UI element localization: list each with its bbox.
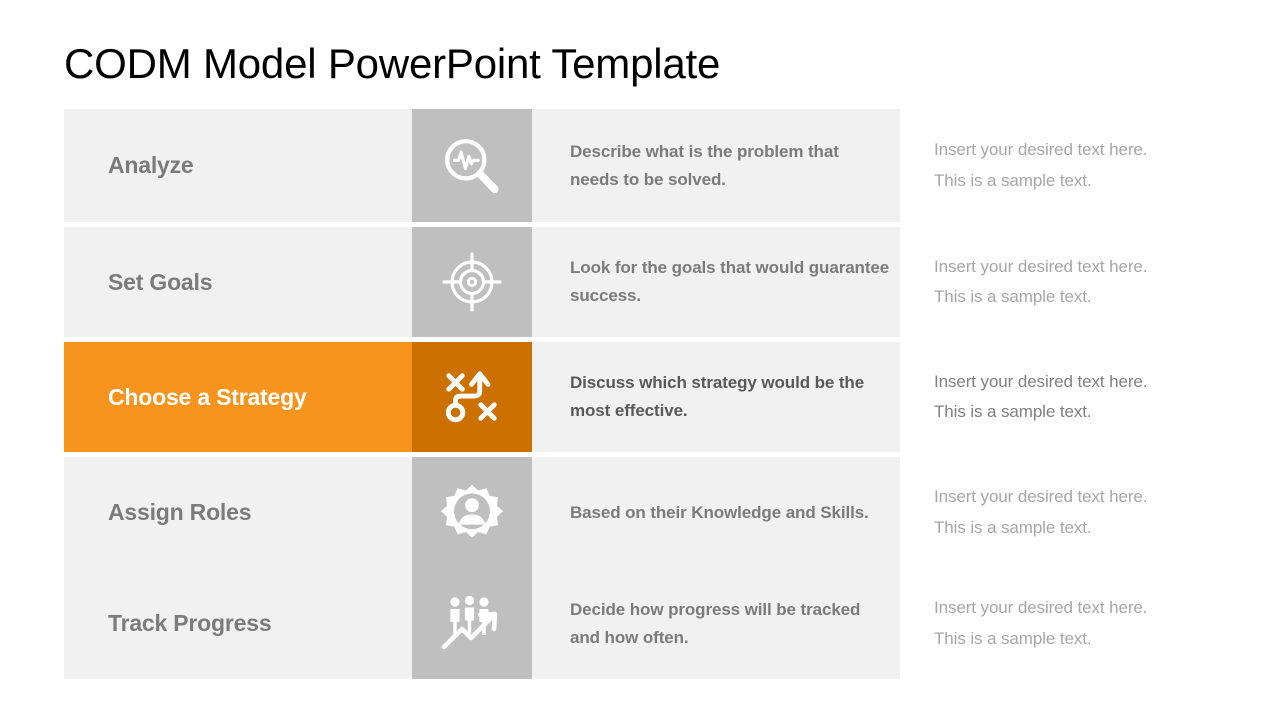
row-icon-cell[interactable] [412,342,532,452]
gear-person-icon [441,482,503,544]
row-label-cell[interactable]: Assign Roles [64,457,412,568]
row-note: Insert your desired text here. This is a… [934,593,1164,654]
row-note: Insert your desired text here. This is a… [934,135,1164,196]
row-description-cell[interactable]: Discuss which strategy would be the most… [532,342,900,452]
page-title: CODM Model PowerPoint Template [64,40,720,88]
row-note-cell[interactable]: Insert your desired text here. This is a… [900,568,1184,679]
row-note: Insert your desired text here. This is a… [934,252,1164,313]
row-description-cell[interactable]: Decide how progress will be tracked and … [532,568,900,679]
row-label-cell[interactable]: Analyze [64,109,412,222]
row-description-cell[interactable]: Describe what is the problem that needs … [532,109,900,222]
row-description-cell[interactable]: Look for the goals that would guarantee … [532,227,900,337]
row-label-cell[interactable]: Set Goals [64,227,412,337]
table-row[interactable]: Track Progress [64,568,1184,679]
people-growth-chart-icon [440,595,504,653]
row-label: Analyze [108,150,194,180]
row-label-cell[interactable]: Choose a Strategy [64,342,412,452]
table-row[interactable]: Assign Roles Based on their Knowledge an… [64,457,1184,568]
target-crosshair-icon [440,250,504,314]
table-row[interactable]: Analyze Describe what is the problem tha… [64,109,1184,222]
row-description: Based on their Knowledge and Skills. [570,499,869,527]
row-description: Decide how progress will be tracked and … [570,596,890,651]
row-note-cell[interactable]: Insert your desired text here. This is a… [900,227,1184,337]
row-description: Describe what is the problem that needs … [570,138,890,193]
row-icon-cell[interactable] [412,109,532,222]
row-label: Assign Roles [108,497,251,527]
row-note-cell[interactable]: Insert your desired text here. This is a… [900,109,1184,222]
row-note: Insert your desired text here. This is a… [934,482,1164,543]
table-row[interactable]: Set Goals Look for the goals that [64,227,1184,337]
row-note: Insert your desired text here. This is a… [934,367,1164,428]
row-icon-cell[interactable] [412,227,532,337]
row-note-cell[interactable]: Insert your desired text here. This is a… [900,457,1184,568]
row-note-cell[interactable]: Insert your desired text here. This is a… [900,342,1184,452]
row-label-cell[interactable]: Track Progress [64,568,412,679]
row-description: Discuss which strategy would be the most… [570,369,890,424]
strategy-playbook-icon [441,366,503,428]
row-label: Choose a Strategy [108,382,307,412]
magnifier-pulse-icon [439,133,505,199]
codm-model-table: Analyze Describe what is the problem tha… [64,109,1184,679]
row-label: Set Goals [108,267,212,297]
row-label: Track Progress [108,608,271,638]
row-icon-cell[interactable] [412,568,532,679]
table-row-active[interactable]: Choose a Strategy Discuss which strategy… [64,342,1184,452]
row-description: Look for the goals that would guarantee … [570,254,890,309]
row-icon-cell[interactable] [412,457,532,568]
row-description-cell[interactable]: Based on their Knowledge and Skills. [532,457,900,568]
slide-canvas: CODM Model PowerPoint Template Analyze D… [0,0,1280,720]
